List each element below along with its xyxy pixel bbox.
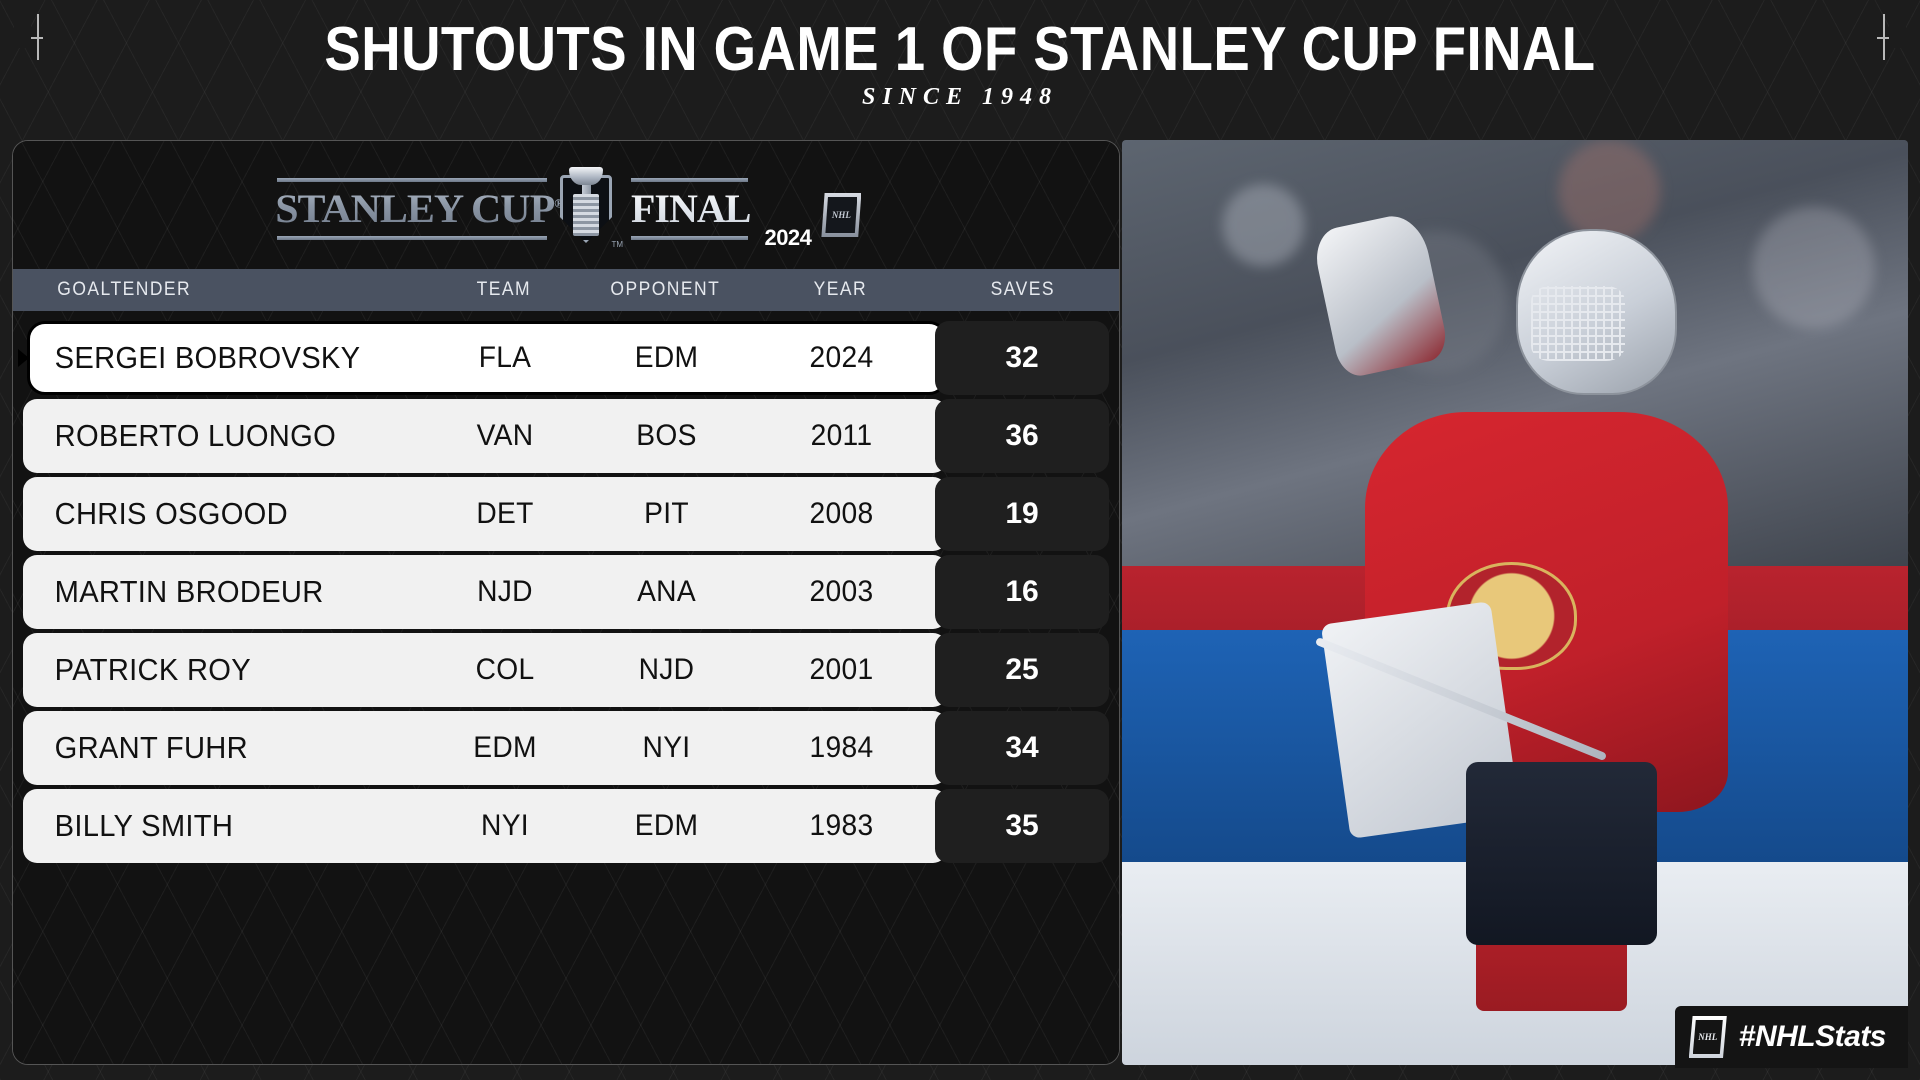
cell-goaltender: PATRICK ROY: [55, 652, 420, 688]
column-header-goaltender: GOALTENDER: [30, 279, 414, 301]
cell-team: COL: [435, 653, 574, 687]
cell-year: 1984: [759, 731, 924, 765]
cell-saves: 25: [1005, 653, 1038, 687]
cell-team: NYI: [435, 809, 574, 843]
table-row[interactable]: CHRIS OSGOODDETPIT200819: [13, 475, 1119, 553]
cell-year: 2011: [759, 419, 924, 453]
cell-saves: 34: [1005, 731, 1038, 765]
cell-year: 1983: [759, 809, 924, 843]
cell-opponent: NYI: [584, 731, 749, 765]
cell-saves-box: 36: [935, 399, 1109, 473]
goalie-figure: [1295, 196, 1798, 1029]
nhl-shield-icon: NHL: [821, 193, 861, 237]
stats-panel: STANLEY CUP® TM FINAL 2024 NHL GOALTENDE…: [12, 140, 1120, 1065]
table-row[interactable]: BILLY SMITHNYIEDM198335: [13, 787, 1119, 865]
logo-final-text: FINAL: [619, 182, 754, 236]
page-title: SHUTOUTS IN GAME 1 OF STANLEY CUP FINAL: [115, 18, 1805, 82]
table-row[interactable]: GRANT FUHREDMNYI198434: [13, 709, 1119, 787]
cell-saves-box: 35: [935, 789, 1109, 863]
table-row[interactable]: SERGEI BOBROVSKYFLAEDM202432: [13, 319, 1119, 397]
cell-saves-box: 16: [935, 555, 1109, 629]
goalie-mask-icon: [1516, 229, 1677, 396]
cell-team: DET: [435, 497, 574, 531]
cell-goaltender: ROBERTO LUONGO: [55, 418, 420, 454]
nhl-stats-badge: NHL #NHLStats: [1675, 1006, 1908, 1068]
logo-stanley-cup-text: STANLEY CUP®: [271, 182, 568, 236]
cell-saves-box: 25: [935, 633, 1109, 707]
nhl-stats-hashtag: #NHLStats: [1739, 1020, 1886, 1054]
cell-year: 2008: [759, 497, 924, 531]
table-row[interactable]: MARTIN BRODEURNJDANA200316: [13, 553, 1119, 631]
cell-saves: 35: [1005, 809, 1038, 843]
nhl-shield-label: NHL: [825, 197, 857, 233]
column-header-year: YEAR: [760, 279, 921, 301]
cell-goaltender: BILLY SMITH: [55, 808, 420, 844]
crop-mark-top-right: [1860, 14, 1906, 60]
cell-goaltender: GRANT FUHR: [55, 730, 420, 766]
cell-team: NJD: [435, 575, 574, 609]
cell-saves-box: 32: [935, 321, 1109, 395]
cell-goaltender: MARTIN BRODEUR: [55, 574, 420, 610]
column-header-saves: SAVES: [935, 279, 1111, 301]
header: SHUTOUTS IN GAME 1 OF STANLEY CUP FINAL …: [0, 0, 1920, 111]
table-body: SERGEI BOBROVSKYFLAEDM202432ROBERTO LUON…: [13, 319, 1119, 865]
cell-saves-box: 34: [935, 711, 1109, 785]
cell-saves: 16: [1005, 575, 1038, 609]
column-header-opponent: OPPONENT: [585, 279, 746, 301]
cell-team: EDM: [435, 731, 574, 765]
cell-team: VAN: [435, 419, 574, 453]
nhl-logo-icon: NHL: [1689, 1016, 1727, 1058]
cell-year: 2024: [759, 341, 924, 375]
stanley-cup-trophy-icon: TM: [555, 167, 617, 251]
logo-rule-bottom-right: [631, 236, 748, 240]
goalie-glove-icon: [1311, 211, 1450, 381]
cell-opponent: NJD: [584, 653, 749, 687]
page-subtitle: SINCE 1948: [0, 84, 1920, 111]
selected-row-arrow-icon: [18, 349, 29, 367]
cell-opponent: EDM: [584, 341, 749, 375]
cell-year: 2003: [759, 575, 924, 609]
column-header-team: TEAM: [436, 279, 572, 301]
stanley-cup-final-logo: STANLEY CUP® TM FINAL 2024 NHL: [13, 167, 1119, 251]
table-row[interactable]: ROBERTO LUONGOVANBOS201136: [13, 397, 1119, 475]
cell-opponent: ANA: [584, 575, 749, 609]
trademark-icon: TM: [611, 240, 623, 249]
logo-rule-bottom: [277, 236, 547, 240]
cell-goaltender: CHRIS OSGOOD: [55, 496, 420, 532]
cell-opponent: BOS: [584, 419, 749, 453]
cell-saves: 36: [1005, 419, 1038, 453]
cell-saves-box: 19: [935, 477, 1109, 551]
cell-opponent: EDM: [584, 809, 749, 843]
table-header: GOALTENDER TEAM OPPONENT YEAR SAVES: [13, 269, 1119, 311]
crop-mark-top-left: [14, 14, 60, 60]
logo-final-block: FINAL: [619, 178, 754, 240]
logo-stanley-cup-block: STANLEY CUP®: [271, 178, 553, 240]
cell-goaltender: SERGEI BOBROVSKY: [55, 340, 420, 376]
cell-saves: 19: [1005, 497, 1038, 531]
goalie-photo: [1122, 140, 1908, 1065]
cell-team: FLA: [435, 341, 574, 375]
logo-year: 2024: [764, 225, 811, 251]
cell-saves: 32: [1005, 341, 1038, 375]
table-row[interactable]: PATRICK ROYCOLNJD200125: [13, 631, 1119, 709]
cell-year: 2001: [759, 653, 924, 687]
cell-opponent: PIT: [584, 497, 749, 531]
